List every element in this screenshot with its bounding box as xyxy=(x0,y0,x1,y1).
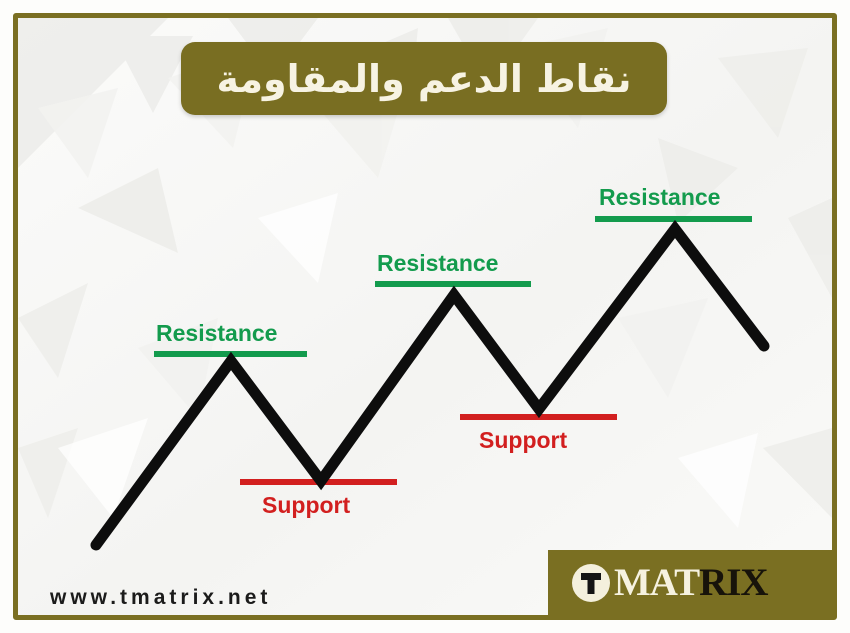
level-label-support-2: Support xyxy=(479,427,567,454)
page-title-badge: نقاط الدعم والمقاومة xyxy=(181,42,667,115)
level-label-resistance-2: Resistance xyxy=(377,250,498,277)
level-label-resistance-3: Resistance xyxy=(599,184,720,211)
brand-wordmark: MATRIX xyxy=(614,563,768,602)
brand-logo[interactable]: MATRIX xyxy=(548,550,832,615)
brand-name-part2: RIX xyxy=(699,561,768,604)
page-title: نقاط الدعم والمقاومة xyxy=(216,60,631,98)
infographic-canvas: ResistanceSupportResistanceSupportResist… xyxy=(0,0,850,633)
level-label-resistance-1: Resistance xyxy=(156,320,277,347)
brand-name-part1: MAT xyxy=(614,561,699,604)
olive-frame-border: ResistanceSupportResistanceSupportResist… xyxy=(13,13,837,620)
website-url[interactable]: www.tmatrix.net xyxy=(50,586,271,610)
t-circle-icon xyxy=(572,564,610,602)
level-label-support-1: Support xyxy=(262,492,350,519)
